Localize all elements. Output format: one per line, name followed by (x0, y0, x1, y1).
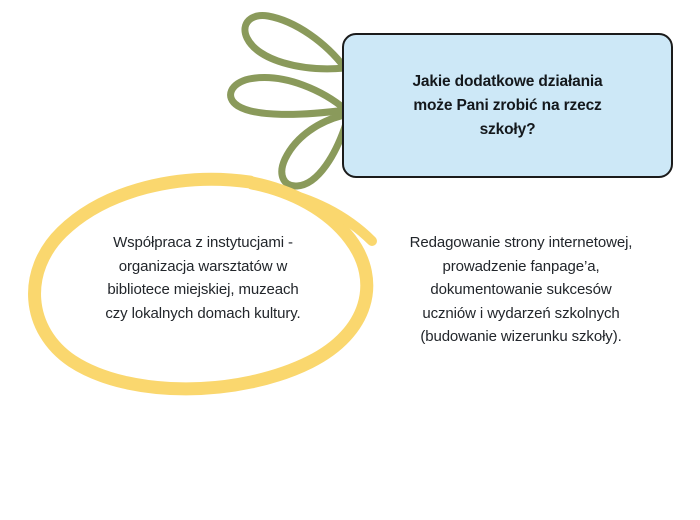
leaf-petal-bottom-icon (282, 114, 349, 186)
question-callout-box: Jakie dodatkowe działania może Pani zrob… (342, 33, 673, 178)
question-text: Jakie dodatkowe działania może Pani zrob… (386, 70, 628, 142)
green-leaves-group (231, 15, 349, 186)
leaf-petal-top-icon (245, 15, 345, 68)
leaf-petal-middle-icon (231, 78, 346, 115)
slide-canvas: Jakie dodatkowe działania może Pani zrob… (0, 0, 700, 520)
answer-left-text: Współpraca z instytucjami - organizacja … (58, 231, 348, 325)
answer-right-text: Redagowanie strony internetowej, prowadz… (374, 231, 668, 349)
